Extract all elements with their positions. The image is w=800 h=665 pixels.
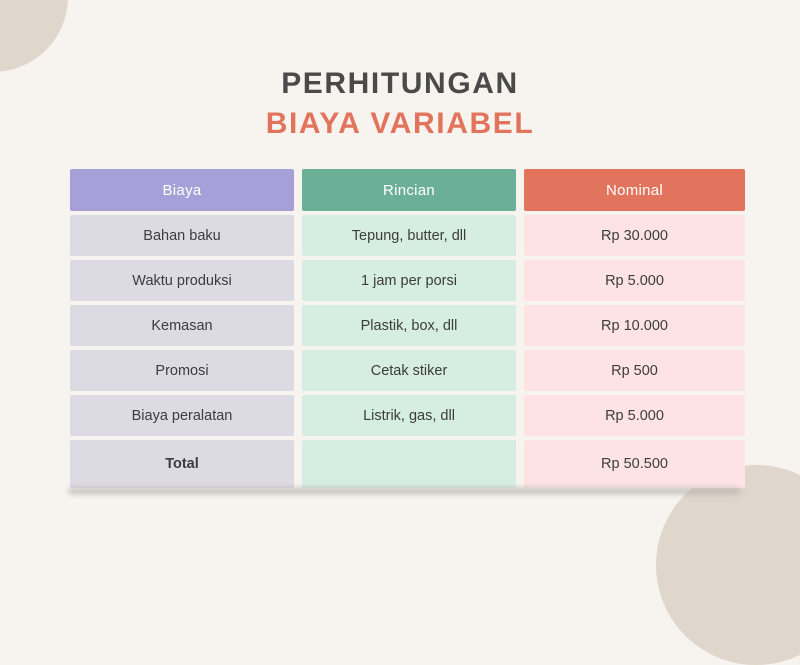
table-row: Promosi Cetak stiker Rp 500: [70, 350, 745, 391]
table-row: Bahan baku Tepung, butter, dll Rp 30.000: [70, 215, 745, 256]
cell-nominal: Rp 5.000: [524, 260, 745, 301]
table-total-row: Total Rp 50.500: [70, 440, 745, 488]
table-row: Waktu produksi 1 jam per porsi Rp 5.000: [70, 260, 745, 301]
cell-rincian: Cetak stiker: [302, 350, 516, 391]
cell-nominal: Rp 10.000: [524, 305, 745, 346]
cell-total-rincian: [302, 440, 516, 488]
cell-rincian: Plastik, box, dll: [302, 305, 516, 346]
cell-rincian: Listrik, gas, dll: [302, 395, 516, 436]
decorative-circle-top-left: [0, 0, 68, 72]
cell-nominal: Rp 30.000: [524, 215, 745, 256]
title-line-primary: PERHITUNGAN: [0, 66, 800, 101]
column-header-nominal: Nominal: [524, 169, 745, 211]
title-line-secondary: BIAYA VARIABEL: [0, 106, 800, 141]
cell-biaya: Kemasan: [70, 305, 294, 346]
cell-total-nominal: Rp 50.500: [524, 440, 745, 488]
cell-total-label: Total: [70, 440, 294, 488]
cell-biaya: Promosi: [70, 350, 294, 391]
table-row: Kemasan Plastik, box, dll Rp 10.000: [70, 305, 745, 346]
cell-nominal: Rp 5.000: [524, 395, 745, 436]
cell-rincian: 1 jam per porsi: [302, 260, 516, 301]
page-title: PERHITUNGAN BIAYA VARIABEL: [0, 66, 800, 142]
slide: PERHITUNGAN BIAYA VARIABEL Biaya Rincian…: [0, 0, 800, 593]
cell-biaya: Waktu produksi: [70, 260, 294, 301]
cost-table: Biaya Rincian Nominal Bahan baku Tepung,…: [62, 165, 753, 492]
table-header-row: Biaya Rincian Nominal: [70, 169, 745, 211]
cell-nominal: Rp 500: [524, 350, 745, 391]
table-row: Biaya peralatan Listrik, gas, dll Rp 5.0…: [70, 395, 745, 436]
cell-biaya: Biaya peralatan: [70, 395, 294, 436]
cell-biaya: Bahan baku: [70, 215, 294, 256]
column-header-biaya: Biaya: [70, 169, 294, 211]
decorative-circle-bottom-right: [656, 465, 800, 665]
cell-rincian: Tepung, butter, dll: [302, 215, 516, 256]
column-header-rincian: Rincian: [302, 169, 516, 211]
